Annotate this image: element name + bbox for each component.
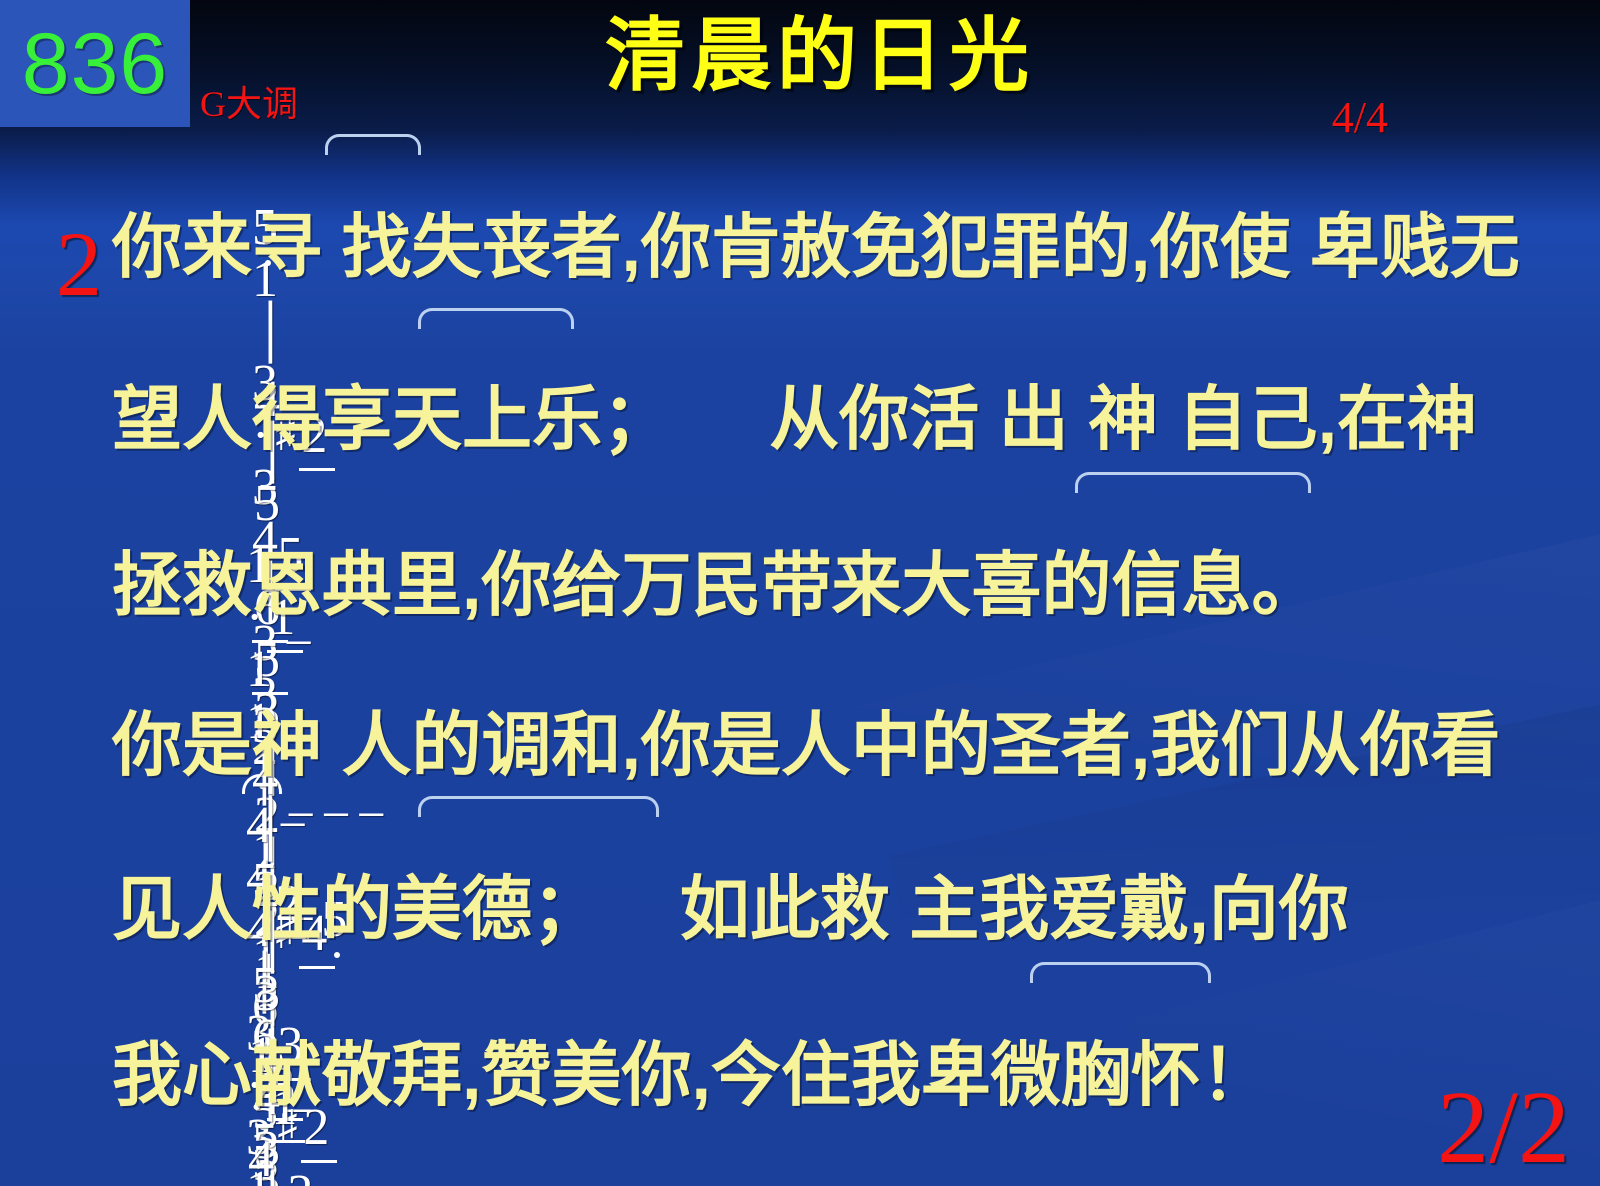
music-system-2: 4 │ 5 ·5 6 5 3 │ 2−−− │ 2−5 1 │ 3 ·♯2 3 …	[0, 322, 1600, 454]
lyric-row-6: 我心献敬拜,赞美你,今住我卑微胸怀！	[0, 1040, 1600, 1110]
slur-tie	[418, 796, 659, 817]
lyric-row-5: 见人性的美德； 如此救 主我爱戴,向你	[0, 874, 1600, 944]
notation-row-2: 4 │ 5 ·5 6 5 3 │ 2−−− │ 2−5 1 │ 3 ·♯2 3 …	[0, 322, 1600, 384]
time-signature-label: 4/4	[1332, 96, 1388, 140]
slur-tie	[325, 134, 421, 155]
music-system-1: 5 1 │ 3 ·♯2 3 4 │ 3− 3 2 │ 1 ·2 1 6 │ 5−…	[0, 150, 1600, 282]
page-title: 清晨的日光	[0, 12, 1600, 100]
music-system-5: 2 │ 3 ·3 4 3 │ 2 − − − │ 2− 3 4 │ 5 ·♯4 …	[0, 812, 1600, 944]
notation-row-1: 5 1 │ 3 ·♯2 3 4 │ 3− 3 2 │ 1 ·2 1 6 │ 5−…	[0, 150, 1600, 212]
music-system-3: 1 ·1 1 1 │ 4− 4 4 │ 3 ·3 3 1 │ 2 ·2 2 7 …	[0, 488, 1600, 620]
lyric-row-1: 你来寻 找失丧者,你肯赦免犯罪的,你使 卑贱无	[0, 212, 1600, 282]
slur-tie	[1030, 962, 1211, 983]
music-system-6: 1 ·1 4 5 │ 6− 6 6 │ 5 ·5 3 1 │ 2−2 7 │ 1…	[0, 978, 1600, 1110]
lyric-row-3: 拯救恩典里,你给万民带来大喜的信息。	[0, 550, 1600, 620]
notation-row-3: 1 ·1 1 1 │ 4− 4 4 │ 3 ·3 3 1 │ 2 ·2 2 7 …	[0, 488, 1600, 550]
notation-row-6: 1 ·1 4 5 │ 6− 6 6 │ 5 ·5 3 1 │ 2−2 7 │ 1…	[0, 978, 1600, 1040]
lyric-row-2: 望人得享天上乐； 从你活 出 神 自己,在神	[0, 384, 1600, 454]
notation-row-5: 2 │ 3 ·3 4 3 │ 2 − − − │ 2− 3 4 │ 5 ·♯4 …	[0, 812, 1600, 874]
lyric-row-4: 你是神 人的调和,你是人中的圣者,我们从你看	[0, 710, 1600, 780]
notation-row-4: 3 4 │ 5 ·♯4 5 6 │ 5 −3 2 │ 1 ·7 1 2 │ 1 …	[0, 648, 1600, 710]
hymn-slide: 836 G大调 清晨的日光 4/4 2 2/2 5 1 │ 3 ·♯2 3 4 …	[0, 0, 1600, 1186]
slur-tie	[418, 308, 574, 329]
music-system-4: 3 4 │ 5 ·♯4 5 6 │ 5 −3 2 │ 1 ·7 1 2 │ 1 …	[0, 648, 1600, 780]
slur-tie	[1075, 472, 1311, 493]
